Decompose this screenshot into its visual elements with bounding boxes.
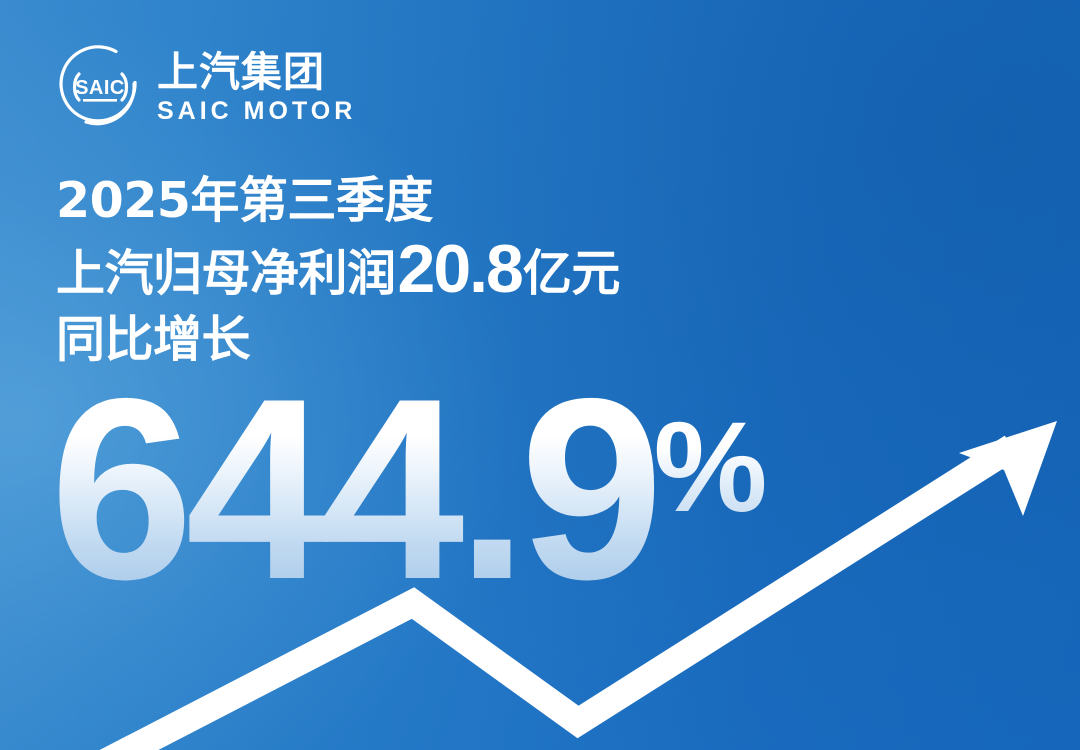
growth-metric-unit: % <box>654 404 768 532</box>
saic-logo: SAIC 上汽集团 SAIC MOTOR <box>56 44 356 130</box>
logo-company-cn: 上汽集团 <box>157 50 356 95</box>
headline-profit-number: 20.8 <box>398 234 522 304</box>
headline-profit-prefix: 上汽归母净利润 <box>56 239 396 309</box>
saic-circle-monogram-icon: SAIC <box>56 44 144 130</box>
headline-profit-suffix: 亿元 <box>523 239 620 309</box>
growth-metric: 644.9 % <box>50 386 767 592</box>
headline-profit: 上汽归母净利润20.8亿元 <box>56 232 956 309</box>
logo-company-en: SAIC MOTOR <box>157 97 356 125</box>
growth-metric-value: 644.9 <box>50 386 656 592</box>
logo-wordmark: 上汽集团 SAIC MOTOR <box>157 45 356 129</box>
svg-text:SAIC: SAIC <box>75 77 125 99</box>
poster-canvas: SAIC 上汽集团 SAIC MOTOR 2025年第三季度 上汽归母净利润20… <box>0 0 1080 750</box>
headline-period: 2025年第三季度 <box>56 170 956 232</box>
headline-block: 2025年第三季度 上汽归母净利润20.8亿元 同比增长 <box>56 170 956 371</box>
